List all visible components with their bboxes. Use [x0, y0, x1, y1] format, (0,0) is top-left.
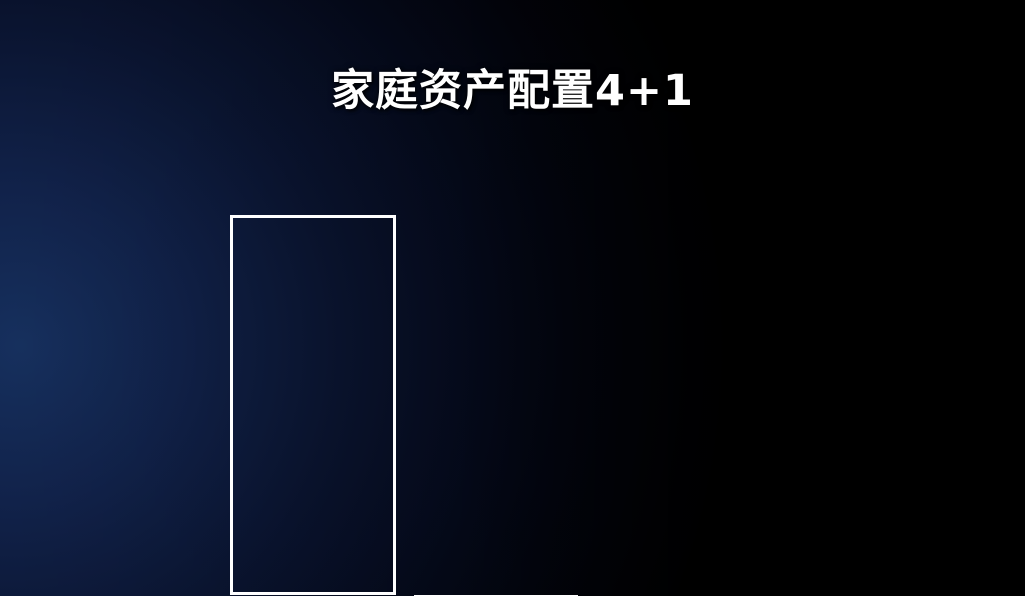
slide-canvas: 家庭资产配置4+1 现金类 活期存款 货币基金 短期银行理财 固收类 国债 储蓄… [0, 0, 1025, 596]
fixed-income-frame [230, 215, 396, 595]
page-title: 家庭资产配置4+1 [0, 56, 1025, 118]
